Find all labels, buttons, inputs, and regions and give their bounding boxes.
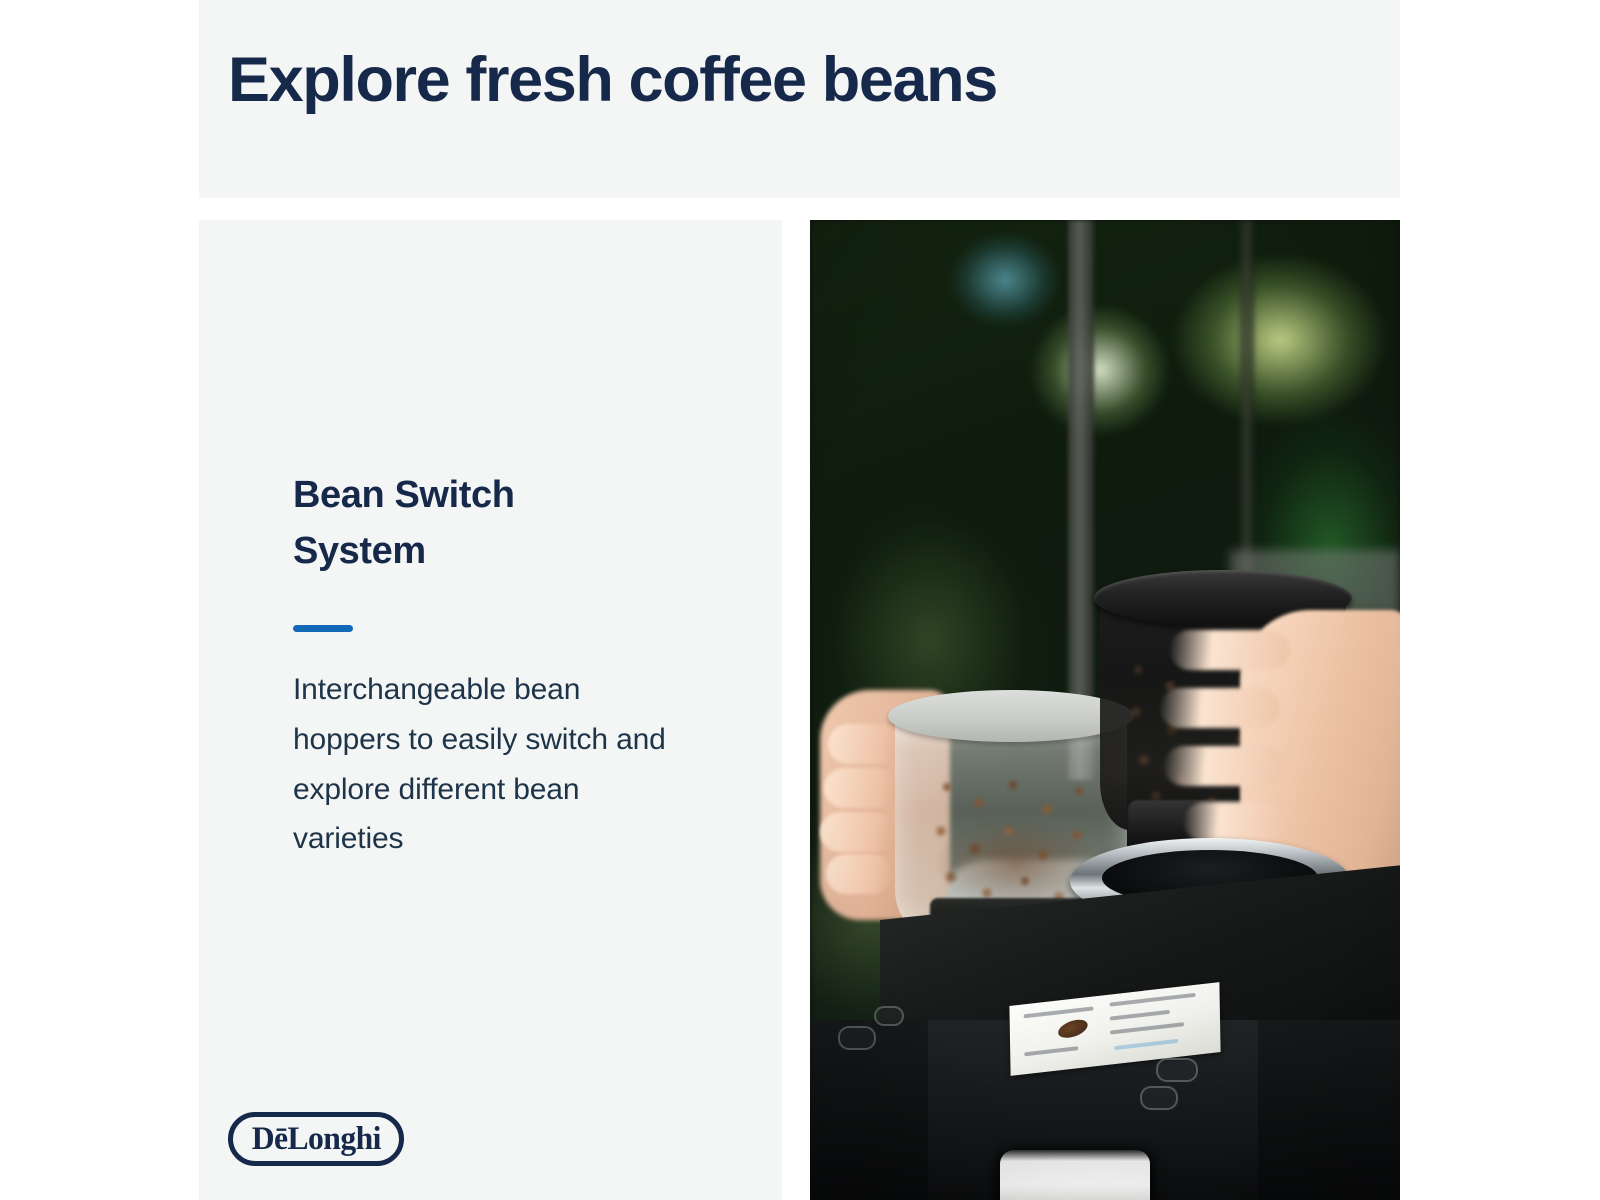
promo-page: Explore fresh coffee beans Bean Switch S… <box>0 0 1600 1200</box>
feature-copy-panel: Bean Switch System Interchangeable bean … <box>199 220 782 1200</box>
delonghi-logo-text: DēLonghi <box>251 1123 380 1156</box>
header-band: Explore fresh coffee beans <box>199 0 1400 198</box>
display-bean-icon <box>1057 1016 1090 1041</box>
touch-button-left[interactable] <box>838 1026 876 1050</box>
feature-description: Interchangeable bean hoppers to easily s… <box>293 665 693 864</box>
coffee-spout <box>1000 1150 1150 1200</box>
accent-divider <box>293 625 353 632</box>
touch-button-top-left[interactable] <box>874 1006 904 1026</box>
delonghi-logo: DēLonghi <box>228 1112 404 1166</box>
product-photo <box>810 220 1400 1200</box>
hopper-frosted-lid <box>888 690 1134 742</box>
content-row: Bean Switch System Interchangeable bean … <box>0 220 1600 1200</box>
feature-heading: Bean Switch System <box>293 468 623 580</box>
touch-button-bottom-right[interactable] <box>1140 1086 1178 1110</box>
page-title: Explore fresh coffee beans <box>228 46 997 115</box>
feature-copy-inner: Bean Switch System Interchangeable bean … <box>293 220 713 1200</box>
touch-button-right[interactable] <box>1156 1058 1198 1082</box>
